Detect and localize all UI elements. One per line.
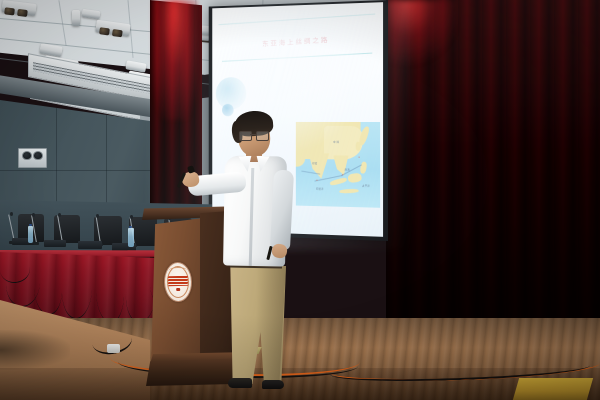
stage-curtain-right [386,0,600,330]
presenter-arm-left [270,170,294,251]
presenter-shoe-left [228,378,252,388]
floor-dark-corner [0,330,70,370]
map-label: 南海 [345,167,350,171]
stage-light-fixture [72,10,80,26]
bottle-cap [129,226,132,228]
panel-seam [0,170,150,171]
microphone-head [10,212,13,216]
name-plate [78,241,102,249]
name-plate [44,240,66,247]
presenter [186,112,326,400]
water-bottle [128,228,134,247]
map-landmass-borneo [347,172,362,183]
slide-title: 东亚海上丝绸之路 [242,34,352,51]
power-adapter [107,344,120,353]
crest-center [176,288,180,291]
stage-prop-gold [513,378,593,400]
microphone-head [130,215,133,219]
map-label: 中 国 [333,140,339,144]
microphone-head [96,214,99,218]
conference-hall-photo: 东亚海上丝绸之路 [0,0,600,400]
map-landmass-korea [355,142,360,151]
map-label: 太平洋 [362,183,370,187]
microphone-head [32,213,35,217]
microphone-head [58,213,61,217]
bottle-cap [29,224,32,226]
eyeglasses-icon [239,131,267,139]
slide-divider [222,52,372,61]
map-port-marker [358,157,359,159]
water-bottle [28,226,33,243]
map-landmass-java [339,189,359,194]
slide-divider-top [219,14,376,26]
emergency-light [18,148,47,168]
map-landmass-philippines [359,161,367,174]
presenter-shoe-right [262,380,284,389]
